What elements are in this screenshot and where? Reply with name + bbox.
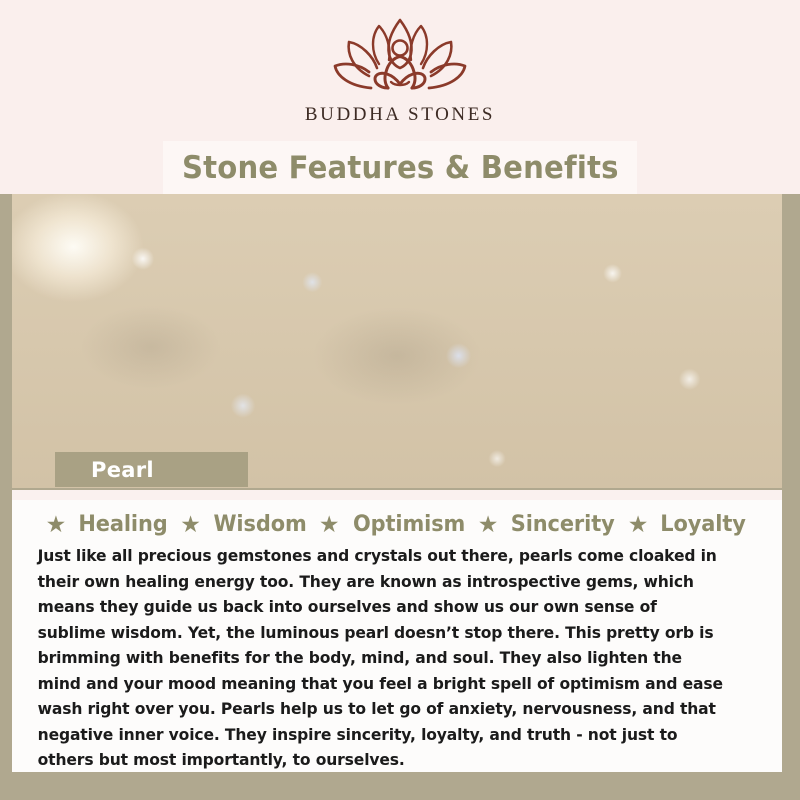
photo-band bbox=[0, 194, 800, 490]
star-icon: ★ bbox=[46, 513, 67, 536]
stone-name-label: Pearl bbox=[91, 458, 154, 482]
star-icon: ★ bbox=[180, 513, 201, 536]
title-banner: Stone Features & Benefits bbox=[163, 141, 637, 194]
keyword-loyalty: Loyalty bbox=[661, 512, 747, 537]
star-icon: ★ bbox=[478, 513, 499, 536]
page-title: Stone Features & Benefits bbox=[182, 150, 619, 186]
stone-features-infographic: BUDDHA STONES Stone Features & Benefits … bbox=[0, 0, 800, 800]
panel-top-tint bbox=[12, 490, 782, 500]
keyword-list: ★ Healing ★ Wisdom ★ Optimism ★ Sincerit… bbox=[30, 512, 764, 537]
photo-iridescence-overlay bbox=[12, 194, 782, 488]
keyword-sincerity: Sincerity bbox=[511, 512, 615, 537]
star-icon: ★ bbox=[319, 513, 340, 536]
pearl-photo bbox=[12, 194, 782, 488]
lotus-meditation-figure-icon bbox=[325, 14, 475, 102]
star-icon: ★ bbox=[628, 513, 649, 536]
content-panel: ★ Healing ★ Wisdom ★ Optimism ★ Sincerit… bbox=[12, 490, 782, 772]
photo-shading-overlay bbox=[12, 194, 782, 488]
brand-logo: BUDDHA STONES bbox=[0, 14, 800, 144]
brand-name: BUDDHA STONES bbox=[305, 104, 495, 126]
keyword-wisdom: Wisdom bbox=[213, 512, 306, 537]
description-paragraph: Just like all precious gemstones and cry… bbox=[30, 543, 731, 773]
keyword-healing: Healing bbox=[79, 512, 168, 537]
keyword-optimism: Optimism bbox=[353, 512, 465, 537]
stone-name-tab: Pearl bbox=[55, 452, 248, 487]
